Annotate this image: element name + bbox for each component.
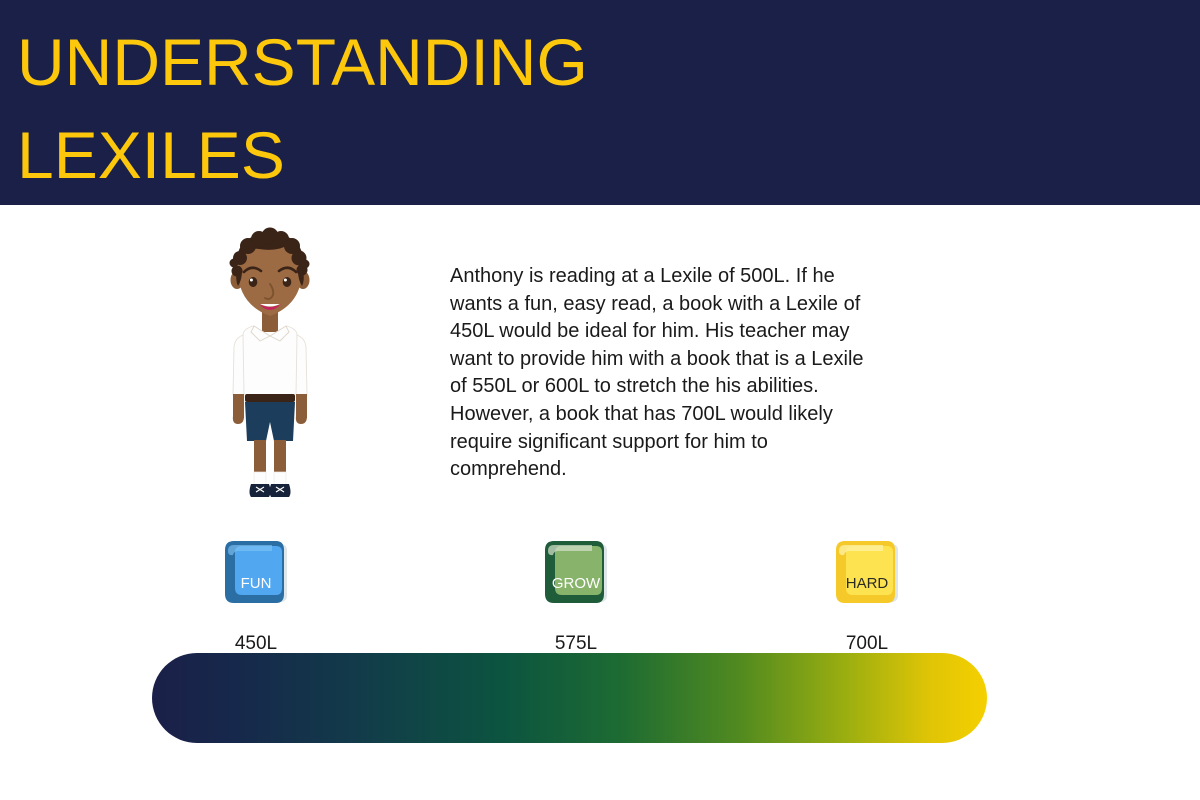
header-band: UNDERSTANDING LEXILES — [0, 0, 1200, 205]
book-icon-grow: GROW — [535, 532, 617, 614]
book-icon-hard: HARD — [826, 532, 908, 614]
book-front-cover — [235, 546, 282, 595]
eye-right — [283, 277, 292, 287]
book-front-cover — [555, 546, 602, 595]
book-card-grow[interactable]: GROW 575L — [496, 532, 656, 653]
shoe-right — [270, 484, 291, 497]
book-card-fun[interactable]: FUN 450L — [176, 532, 336, 653]
book-lexile-fun: 450L — [176, 634, 336, 653]
lexile-difficulty-spectrum-bar — [152, 653, 987, 743]
book-front-cover — [846, 546, 893, 595]
book-card-hard[interactable]: HARD 700L — [787, 532, 947, 653]
page-title: UNDERSTANDING LEXILES — [17, 16, 1117, 202]
shorts — [245, 402, 295, 441]
sleeve-right — [296, 335, 307, 395]
story-paragraph: Anthony is reading at a Lexile of 500L. … — [450, 263, 880, 484]
belt — [245, 394, 295, 402]
leg-right — [274, 440, 286, 476]
leg-left — [254, 440, 266, 476]
book-lexile-grow: 575L — [496, 634, 656, 653]
shoe-left — [250, 484, 271, 497]
character-illustration-anthony — [218, 218, 322, 503]
shirt — [243, 326, 297, 397]
arm-right — [296, 394, 307, 418]
book-lexile-hard: 700L — [787, 634, 947, 653]
book-icon-fun: FUN — [215, 532, 297, 614]
arm-left — [233, 394, 244, 418]
eye-left — [249, 277, 258, 287]
sleeve-left — [233, 335, 244, 395]
